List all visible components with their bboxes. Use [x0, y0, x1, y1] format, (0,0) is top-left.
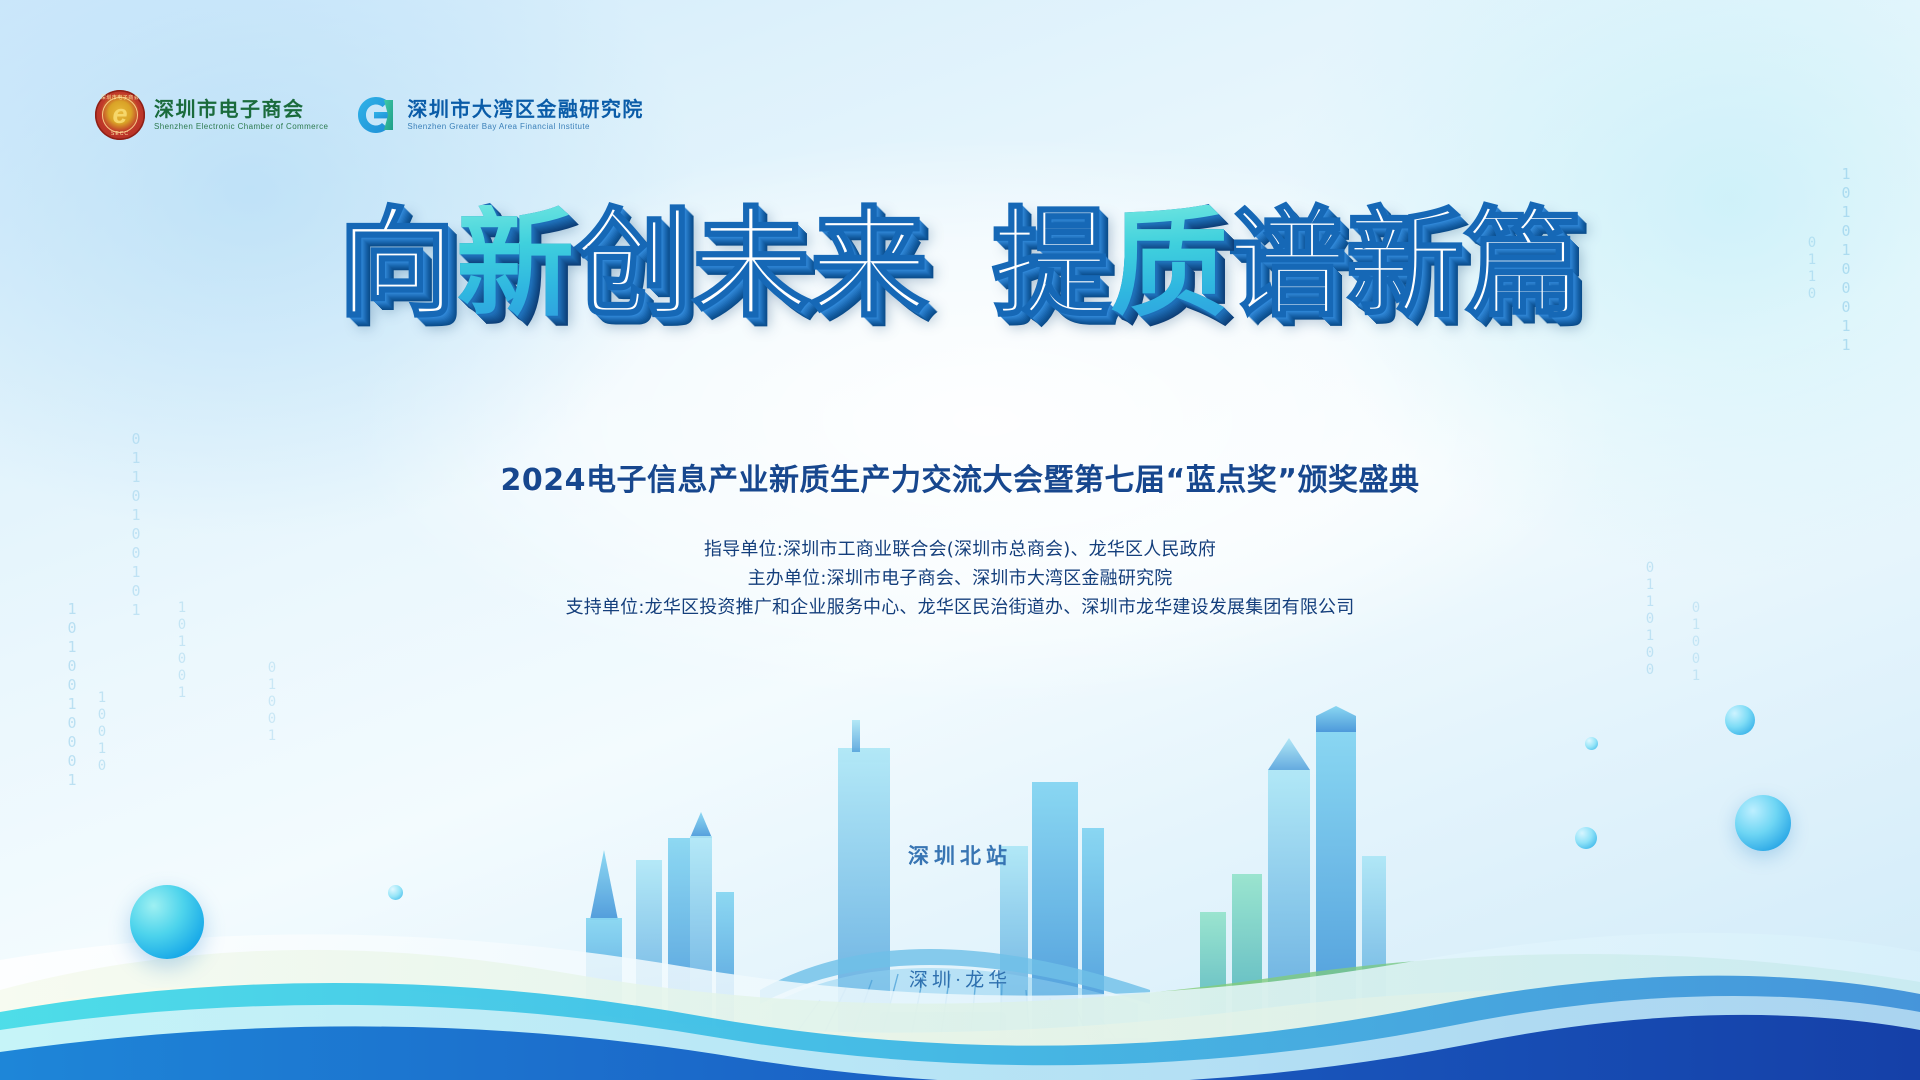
title-char: 新	[1346, 205, 1464, 323]
event-subtitle: 2024电子信息产业新质生产力交流大会暨第七届“蓝点奖”颁奖盛典	[0, 455, 1920, 499]
logo-cn-name-1: 深圳市电子商会	[154, 100, 328, 121]
title-char: 向	[338, 205, 456, 323]
seal-bottom-text: SECC	[95, 131, 145, 137]
title-char: 篇	[1464, 205, 1582, 323]
logo-cn-name-2: 深圳市大湾区金融研究院	[407, 100, 644, 121]
seal-top-text: 深圳市电子商会	[95, 94, 145, 101]
title-char-highlight: 新新	[456, 205, 574, 323]
logo-en-name-2: Shenzhen Greater Bay Area Financial Inst…	[407, 123, 644, 131]
poster-canvas: 1010010001100100110100101101001010011010…	[0, 0, 1920, 1080]
title-char: 质	[1110, 205, 1228, 323]
station-name-label: 深圳北站	[0, 840, 1920, 870]
title-char: 新	[456, 205, 574, 323]
title-char: 谱	[1228, 205, 1346, 323]
organizer-block: 指导单位:深圳市工商业联合会(深圳市总商会)、龙华区人民政府 主办单位:深圳市电…	[0, 535, 1920, 622]
skyline-scene	[0, 660, 1920, 1080]
logo-greater-bay-financial-institute: 深圳市大湾区金融研究院 Shenzhen Greater Bay Area Fi…	[354, 94, 644, 136]
organizer-line-host: 主办单位:深圳市电子商会、深圳市大湾区金融研究院	[0, 564, 1920, 593]
seal-letter: e	[95, 101, 145, 128]
gbi-icon	[354, 94, 398, 136]
logo-en-name-1: Shenzhen Electronic Chamber of Commerce	[154, 123, 328, 131]
page-title: 向新新创未来提质质谱新篇	[0, 205, 1920, 323]
organizer-line-support: 支持单位:龙华区投资推广和企业服务中心、龙华区民治街道办、深圳市龙华建设发展集团…	[0, 593, 1920, 622]
title-char-highlight: 质质	[1110, 205, 1228, 323]
seal-e-icon: 深圳市电子商会 e SECC	[95, 90, 145, 140]
decorative-sphere-right-small	[1725, 705, 1755, 735]
decorative-sphere-large-left	[130, 885, 204, 959]
decorative-sphere-tiny-right	[1585, 737, 1598, 750]
decorative-sphere-tiny-left	[388, 885, 403, 900]
logo-shenzhen-electronic-chamber: 深圳市电子商会 e SECC 深圳市电子商会 Shenzhen Electron…	[95, 90, 328, 140]
logo-bar: 深圳市电子商会 e SECC 深圳市电子商会 Shenzhen Electron…	[95, 90, 644, 140]
title-char: 提	[992, 205, 1110, 323]
title-char: 来	[810, 205, 928, 323]
title-char: 创	[574, 205, 692, 323]
title-char: 未	[692, 205, 810, 323]
organizer-line-guidance: 指导单位:深圳市工商业联合会(深圳市总商会)、龙华区人民政府	[0, 535, 1920, 564]
city-name-label: 深圳·龙华	[0, 965, 1920, 992]
